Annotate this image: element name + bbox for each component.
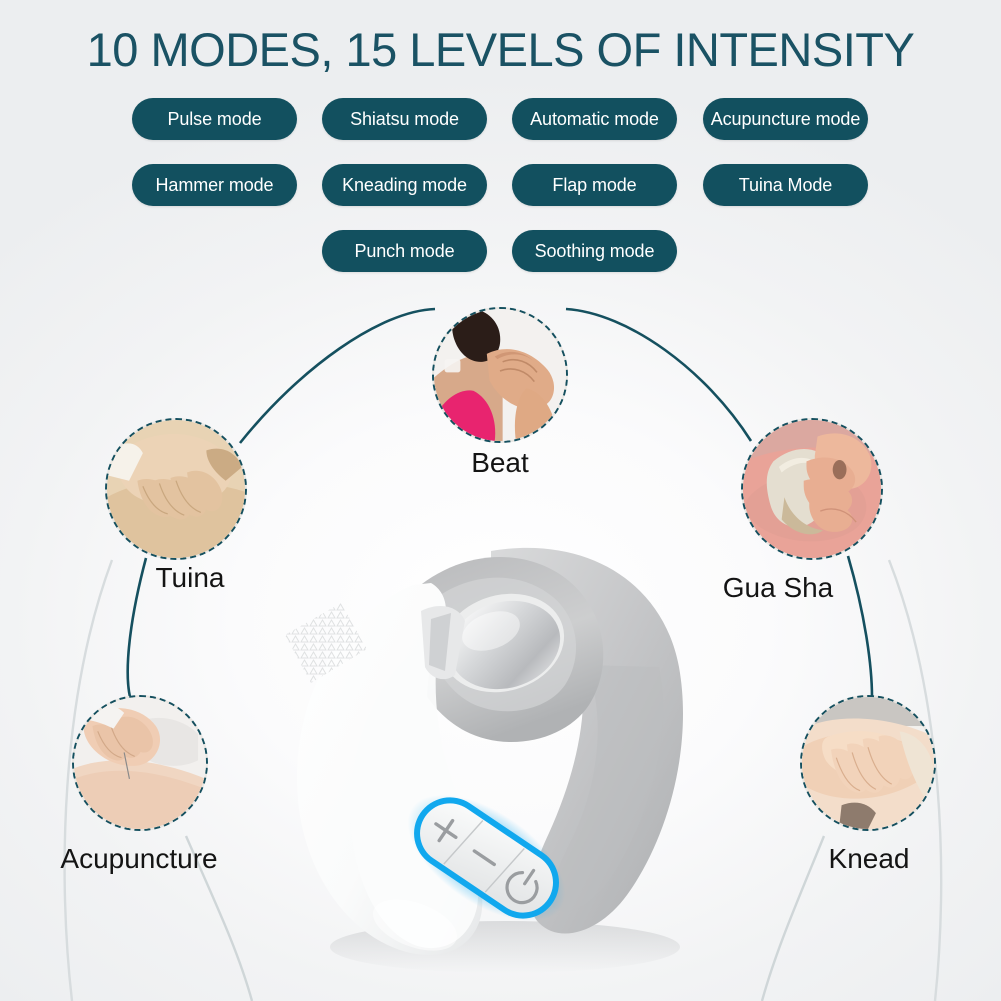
mode-pill-kneading-mode[interactable]: Kneading mode [322, 164, 487, 206]
mode-pill-shiatsu-mode[interactable]: Shiatsu mode [322, 98, 487, 140]
woman-in-pink-top-receiving-neck-massage-image [434, 309, 566, 441]
technique-bubble-gua-sha[interactable] [741, 418, 883, 560]
mode-pill-hammer-mode[interactable]: Hammer mode [132, 164, 297, 206]
hand-holding-jade-gua-sha-tool-on-red-skin-image [743, 420, 881, 558]
mode-pill-acupuncture-mode[interactable]: Acupuncture mode [703, 98, 868, 140]
mode-pill-flap-mode[interactable]: Flap mode [512, 164, 677, 206]
hands-pressing-on-back-image [107, 420, 245, 558]
infographic-poster: 10 MODES, 15 LEVELS OF INTENSITY Pulse m… [0, 0, 1001, 1001]
technique-label-beat: Beat [350, 447, 650, 479]
hands-kneading-back-image [802, 697, 934, 829]
technique-bubble-beat[interactable] [432, 307, 568, 443]
technique-label-acupuncture: Acupuncture [0, 843, 289, 875]
technique-label-knead: Knead [719, 843, 1001, 875]
mode-pill-punch-mode[interactable]: Punch mode [322, 230, 487, 272]
technique-bubble-acupuncture[interactable] [72, 695, 208, 831]
mode-pill-pulse-mode[interactable]: Pulse mode [132, 98, 297, 140]
neck-massager-device [255, 515, 725, 985]
hand-inserting-acupuncture-needle-in-arm-image [74, 697, 206, 829]
technique-bubble-knead[interactable] [800, 695, 936, 831]
mode-pill-soothing-mode[interactable]: Soothing mode [512, 230, 677, 272]
mode-pill-tuina-mode[interactable]: Tuina Mode [703, 164, 868, 206]
mode-pill-automatic-mode[interactable]: Automatic mode [512, 98, 677, 140]
technique-bubble-tuina[interactable] [105, 418, 247, 560]
